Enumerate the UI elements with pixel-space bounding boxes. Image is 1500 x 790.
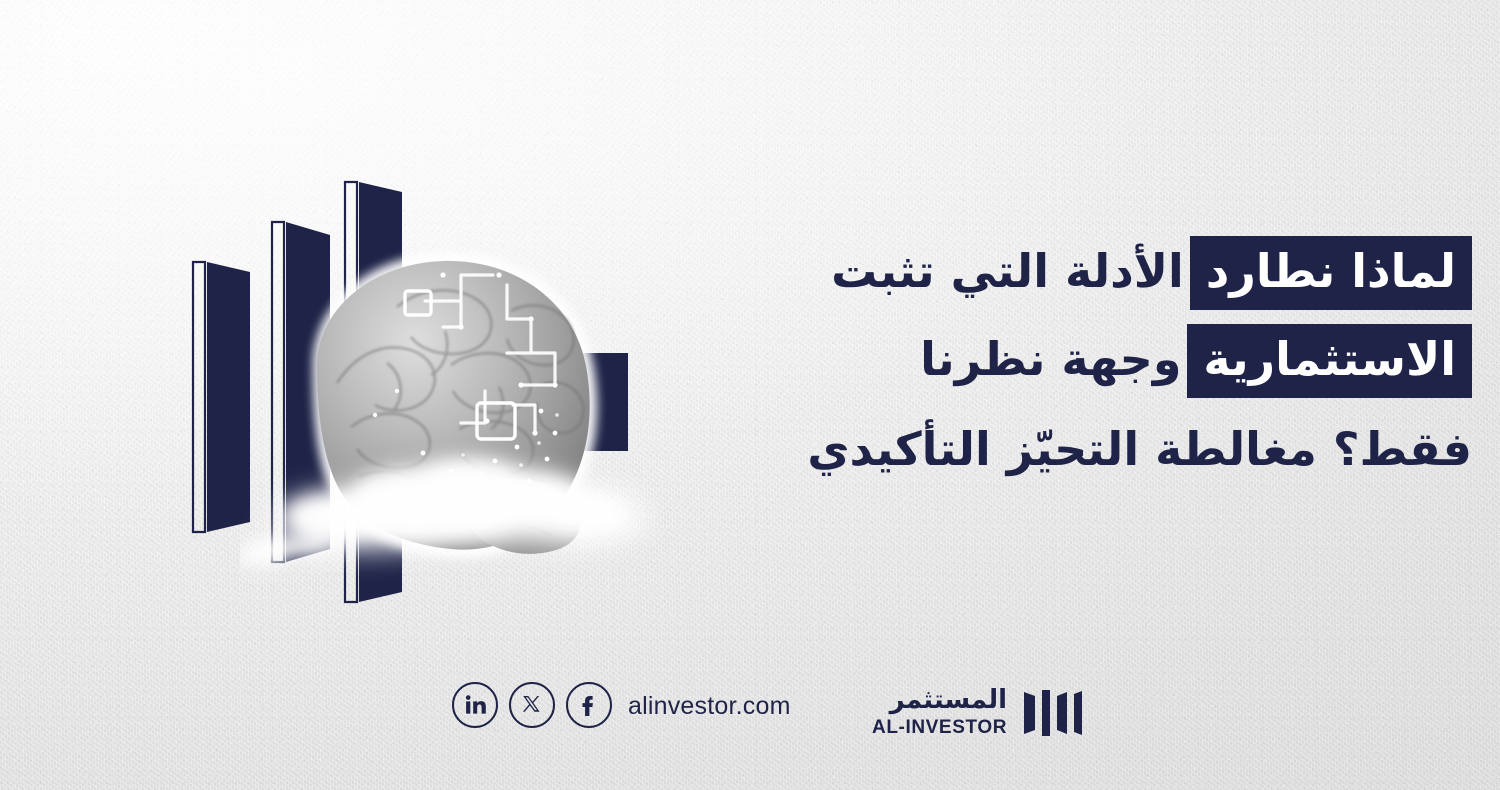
headline-line-3-plain: فقط؟ مغالطة التحيّز التأكيدي <box>797 414 1472 488</box>
headline: لماذا نطاردالأدلة التي تثبت الاستثماريةو… <box>292 236 1472 488</box>
x-glyph <box>521 694 543 716</box>
headline-line-1: لماذا نطاردالأدلة التي تثبت <box>292 236 1472 310</box>
headline-line-1-highlight: لماذا نطارد <box>1190 236 1472 310</box>
brand-name-arabic: المستثمر <box>872 687 1007 714</box>
bar-1-outline <box>193 262 205 532</box>
social-card: لماذا نطاردالأدلة التي تثبت الاستثماريةو… <box>0 0 1500 790</box>
bar-1-face <box>207 262 250 532</box>
facebook-glyph <box>577 693 601 717</box>
headline-line-2-highlight: الاستثمارية <box>1187 324 1472 398</box>
linkedin-glyph <box>463 693 487 717</box>
brand-logo-mark <box>1020 680 1086 746</box>
social-links <box>452 682 612 728</box>
headline-line-1-plain: الأدلة التي تثبت <box>821 236 1190 310</box>
headline-line-2: الاستثماريةوجهة نظرنا <box>292 324 1472 398</box>
facebook-icon[interactable] <box>566 682 612 728</box>
website-url[interactable]: alinvestor.com <box>628 692 791 721</box>
brand-name-english: AL-INVESTOR <box>872 717 1007 739</box>
brand-logo-text: المستثمر AL-INVESTOR <box>872 687 1007 738</box>
brand-logo: المستثمر AL-INVESTOR <box>872 680 1086 746</box>
headline-line-3: فقط؟ مغالطة التحيّز التأكيدي <box>292 414 1472 488</box>
footer: alinvestor.com المستثمر AL-INVESTOR <box>0 680 1500 750</box>
x-twitter-icon[interactable] <box>509 682 555 728</box>
linkedin-icon[interactable] <box>452 682 498 728</box>
headline-line-2-plain: وجهة نظرنا <box>910 324 1187 398</box>
